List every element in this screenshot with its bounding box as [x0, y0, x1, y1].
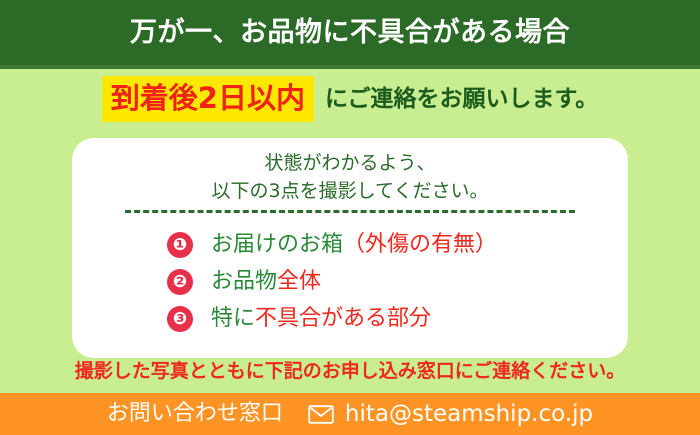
list-item-3-green-text: 特に [211, 306, 255, 331]
list-item-3-red-text: 不具合がある部分 [255, 306, 431, 331]
photo-checklist: ❶ お届けのお箱（外傷の有無） ❷ お品物全体 ❸ 特に不具合がある部分 [167, 226, 607, 337]
contact-note: 撮影した写真とともに下記のお申し込み窓口にご連絡ください。 [0, 362, 700, 381]
header-banner: 万が一、お品物に不具合がある場合 [0, 0, 700, 65]
footer-email-address: hita@steamship.co.jp [345, 403, 593, 426]
footer-contact-bar: お問い合わせ窓口 hita@steamship.co.jp [0, 393, 700, 435]
card-heading: 状態がわかるよう、 以下の3点を撮影してください。 [72, 149, 628, 205]
deadline-highlight-badge: 到着後2日以内 [102, 76, 314, 122]
card-heading-line-2: 以下の3点を撮影してください。 [72, 177, 628, 205]
card-heading-line-1: 状態がわかるよう、 [72, 149, 628, 177]
number-badge-2: ❷ [167, 269, 193, 295]
dashed-divider [125, 210, 575, 213]
mail-icon [308, 405, 334, 424]
footer-contact-label: お問い合わせ窓口 [107, 403, 283, 425]
header-title: 万が一、お品物に不具合がある場合 [130, 19, 570, 46]
number-badge-3: ❸ [167, 306, 193, 332]
list-item-text: お品物全体 [211, 271, 321, 293]
number-badge-1: ❶ [167, 232, 193, 258]
list-item: ❸ 特に不具合がある部分 [167, 300, 607, 337]
list-item-text: お届けのお箱（外傷の有無） [211, 234, 497, 256]
deadline-tail-text: にご連絡をお願いします。 [325, 88, 598, 111]
deadline-row: 到着後2日以内 にご連絡をお願いします。 [0, 72, 700, 126]
notice-poster: 万が一、お品物に不具合がある場合 到着後2日以内 にご連絡をお願いします。 状態… [0, 0, 700, 435]
list-item-text: 特に不具合がある部分 [211, 308, 431, 330]
list-item-1-red-text: （外傷の有無） [343, 232, 497, 257]
list-item-2-green-text: お品物 [211, 269, 277, 294]
list-item-2-red-text: 全体 [277, 269, 321, 294]
instruction-card: 状態がわかるよう、 以下の3点を撮影してください。 ❶ お届けのお箱（外傷の有無… [72, 138, 628, 358]
list-item: ❷ お品物全体 [167, 263, 607, 300]
list-item: ❶ お届けのお箱（外傷の有無） [167, 226, 607, 263]
list-item-1-green-text: お届けのお箱 [211, 232, 343, 257]
header-underline-rule [0, 65, 700, 69]
